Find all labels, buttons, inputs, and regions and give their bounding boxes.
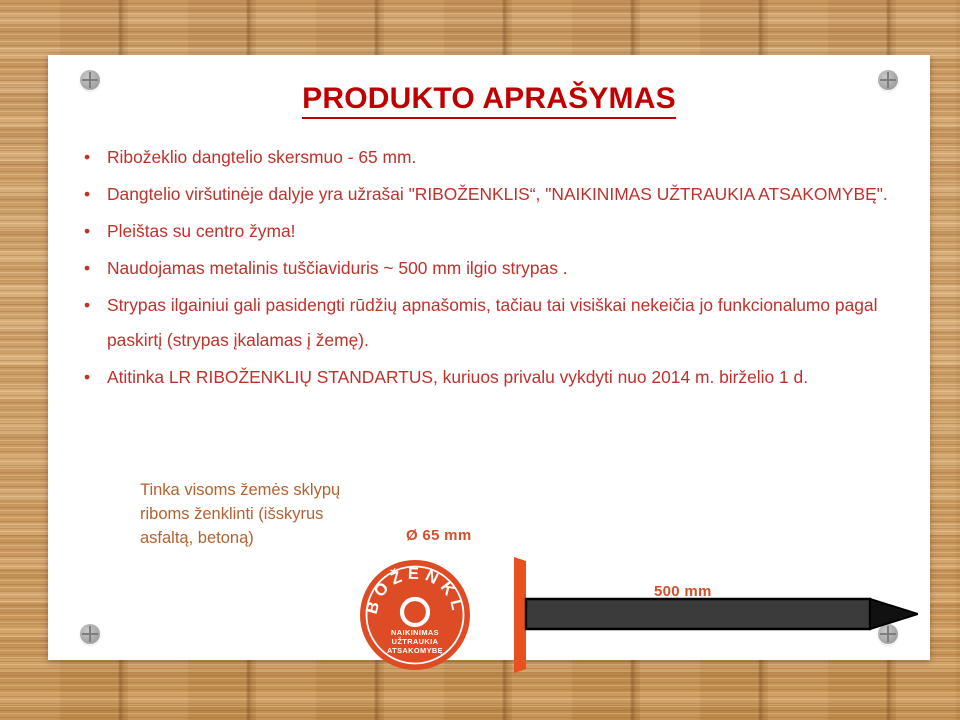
list-item-text: Naudojamas metalinis tuščiaviduris ~ 500… — [107, 258, 568, 278]
diameter-label: Ø 65 mm — [406, 527, 471, 544]
list-item: • Strypas ilgainiui gali pasidengti rūdž… — [63, 288, 923, 358]
seal-line-2: UŽTRAUKIA — [392, 637, 439, 646]
bullet-list: • Ribožeklio dangtelio skersmuo - 65 mm.… — [63, 140, 923, 397]
list-item: • Atitinka LR RIBOŽENKLIŲ STANDARTUS, ku… — [63, 360, 923, 395]
list-item: • Pleištas su centro žyma! — [63, 214, 923, 249]
page-title-text: PRODUKTO APRAŠYMAS — [302, 82, 676, 119]
list-item-text: Atitinka LR RIBOŽENKLIŲ STANDARTUS, kuri… — [107, 367, 808, 387]
slide-panel: PRODUKTO APRAŠYMAS • Ribožeklio dangteli… — [48, 55, 930, 660]
list-item-text: Strypas ilgainiui gali pasidengti rūdžių… — [107, 295, 877, 350]
product-illustration: Tinka visoms žemės sklypų riboms ženklin… — [48, 470, 930, 660]
seal-line-3: ATSAKOMYBĘ — [387, 646, 443, 655]
list-item: • Naudojamas metalinis tuščiaviduris ~ 5… — [63, 251, 923, 286]
bullet-marker: • — [84, 214, 90, 249]
list-item-text: Pleištas su centro žyma! — [107, 221, 295, 241]
list-item: • Ribožeklio dangtelio skersmuo - 65 mm. — [63, 140, 923, 175]
list-item-text: Ribožeklio dangtelio skersmuo - 65 mm. — [107, 147, 416, 167]
marker-rod-side-view-icon — [458, 555, 918, 675]
list-item: • Dangtelio viršutinėje dalyje yra užraš… — [63, 177, 923, 212]
bullet-marker: • — [84, 360, 90, 395]
bullet-marker: • — [84, 251, 90, 286]
list-item-text: Dangtelio viršutinėje dalyje yra užrašai… — [107, 184, 888, 204]
bullet-marker: • — [84, 140, 90, 175]
seal-line-1: NAIKINIMAS — [391, 628, 439, 637]
boundary-marker-seal-icon: RIBOŽENKLIS NAIKINIMAS UŽTRAUKIA ATSAKOM… — [355, 555, 475, 675]
page-title: PRODUKTO APRAŠYMAS — [48, 82, 930, 116]
bullet-marker: • — [84, 288, 90, 323]
bullet-marker: • — [84, 177, 90, 212]
suitability-note-text: Tinka visoms žemės sklypų riboms ženklin… — [140, 478, 350, 551]
